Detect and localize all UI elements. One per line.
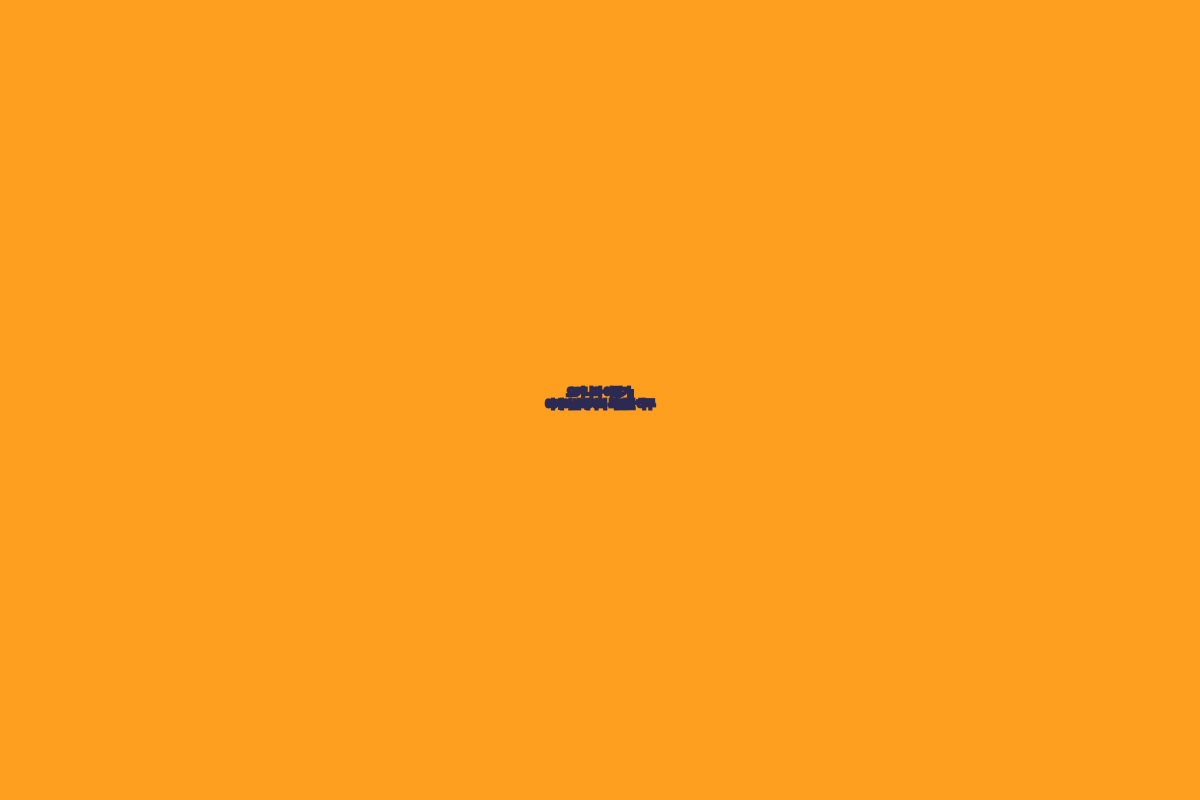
title-block: 오키나와 여행기: 이케이섬에서의 특별한 하루 <box>0 388 1200 411</box>
title-line-1: 오키나와 여행기: <box>0 388 1200 400</box>
title-card: 오키나와 여행기: 이케이섬에서의 특별한 하루 <box>0 0 1200 800</box>
title-line-2: 이케이섬에서의 특별한 하루 <box>0 400 1200 412</box>
